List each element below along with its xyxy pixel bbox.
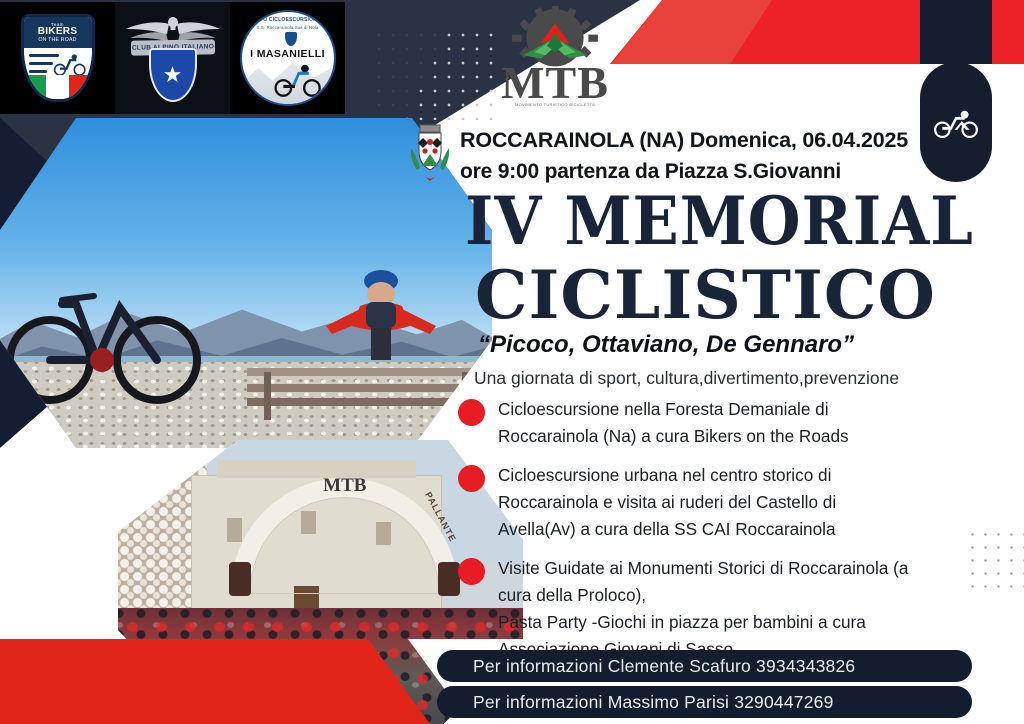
red-bottom-band <box>0 639 430 724</box>
star-icon: ★ <box>163 64 183 86</box>
page-subtitle: “Picoco, Ottaviano, De Gennaro” <box>478 331 854 359</box>
cai-emblem-icon: CLUB ALPINO ITALIANO ★ <box>121 10 225 106</box>
bikers-shield-icon: Team BIKERS ON THE ROAD <box>21 14 95 102</box>
logo-bikers-on-the-road: Team BIKERS ON THE ROAD <box>0 2 115 114</box>
bike-shape-icon <box>2 256 202 406</box>
bullet-line: Roccarainola e visita ai ruderi del Cast… <box>498 489 1015 516</box>
bikers-line2: ON THE ROAD <box>38 37 76 43</box>
bullet-line: Pasta Party -Giochi in piazza per bambin… <box>498 609 1015 636</box>
poster-canvas: Team BIKERS ON THE ROAD <box>0 0 1024 724</box>
bullet-line: Cicloescursione nella Foresta Demaniale … <box>498 396 1015 423</box>
cyclist-badge <box>920 62 992 182</box>
list-item: Visite Guidate ai Monumenti Storici di R… <box>455 555 1015 663</box>
logo-i-masanielli: GRUPPO CICLOESCURSIONISMO S.S. Roccarain… <box>230 2 345 114</box>
page-tagline: Una giornata di sport, cultura,divertime… <box>474 368 899 389</box>
activity-list: Cicloescursione nella Foresta Demaniale … <box>455 396 1015 675</box>
cyclist-pill-top <box>920 0 992 64</box>
list-item: Cicloescursione nella Foresta Demaniale … <box>455 396 1015 450</box>
event-location-date: ROCCARAINOLA (NA) Domenica, 06.04.2025 <box>460 128 908 153</box>
masanielli-circle-icon: GRUPPO CICLOESCURSIONISMO S.S. Roccarain… <box>240 10 336 106</box>
list-item: Cicloescursione urbana nel centro storic… <box>455 462 1015 543</box>
inflatable-arch-icon: MTB PALLANTE <box>231 478 458 594</box>
bullet-line: Visite Guidate ai Monumenti Storici di R… <box>498 555 1015 582</box>
roccarainola-crest-icon <box>404 122 456 184</box>
contact-pill-2: Per informazioni Massimo Parisi 32904472… <box>437 686 972 718</box>
bullet-line: cura della Proloco), <box>498 582 1015 609</box>
masanielli-title: I MASANIELLI <box>242 48 334 60</box>
masanielli-cyclist-icon <box>272 64 324 98</box>
bikers-line1: BIKERS <box>38 27 78 37</box>
bullet-dot-icon <box>458 399 485 426</box>
event-time-start: ore 9:00 partenza da Piazza S.Giovanni <box>460 160 841 184</box>
page-title-line2: CICLISTICO <box>475 262 936 328</box>
page-title-line1: IV MEMORIAL <box>465 188 974 254</box>
masanielli-badge-icon <box>285 32 297 46</box>
bullet-dot-icon <box>458 465 485 492</box>
cai-shield-icon: ★ <box>149 48 197 102</box>
bullet-line: Roccarainola (Na) a cura Bikers on the R… <box>498 423 1015 450</box>
mtb-logo: MTB MOVIMENTO TURISTICO BICICLETTA <box>495 4 615 112</box>
cyclist-icon <box>933 93 979 152</box>
bullet-dot-icon <box>458 558 485 585</box>
bullet-line: Cicloescursione urbana nel centro storic… <box>498 462 1015 489</box>
rider-shape-icon <box>322 268 440 360</box>
dot-grid-top-light <box>372 28 500 120</box>
masanielli-arc-line2: S.S. Roccarainola Sas di Nola <box>242 25 334 30</box>
mtb-wordmark: MTB <box>495 60 615 106</box>
contact-info: Per informazioni Clemente Scafuro 393434… <box>437 650 972 722</box>
bullet-line: Avella(Av) a cura della SS CAI Roccarain… <box>498 516 1015 543</box>
arch-mtb-text: MTB <box>323 475 366 497</box>
contact-pill-1: Per informazioni Clemente Scafuro 393434… <box>437 650 972 682</box>
mtb-subtext: MOVIMENTO TURISTICO BICICLETTA <box>495 102 615 107</box>
club-logos: Team BIKERS ON THE ROAD <box>0 2 345 114</box>
masanielli-arc-line1: GRUPPO CICLOESCURSIONISMO <box>242 17 334 23</box>
logo-club-alpino-italiano: CLUB ALPINO ITALIANO ★ <box>115 2 230 114</box>
